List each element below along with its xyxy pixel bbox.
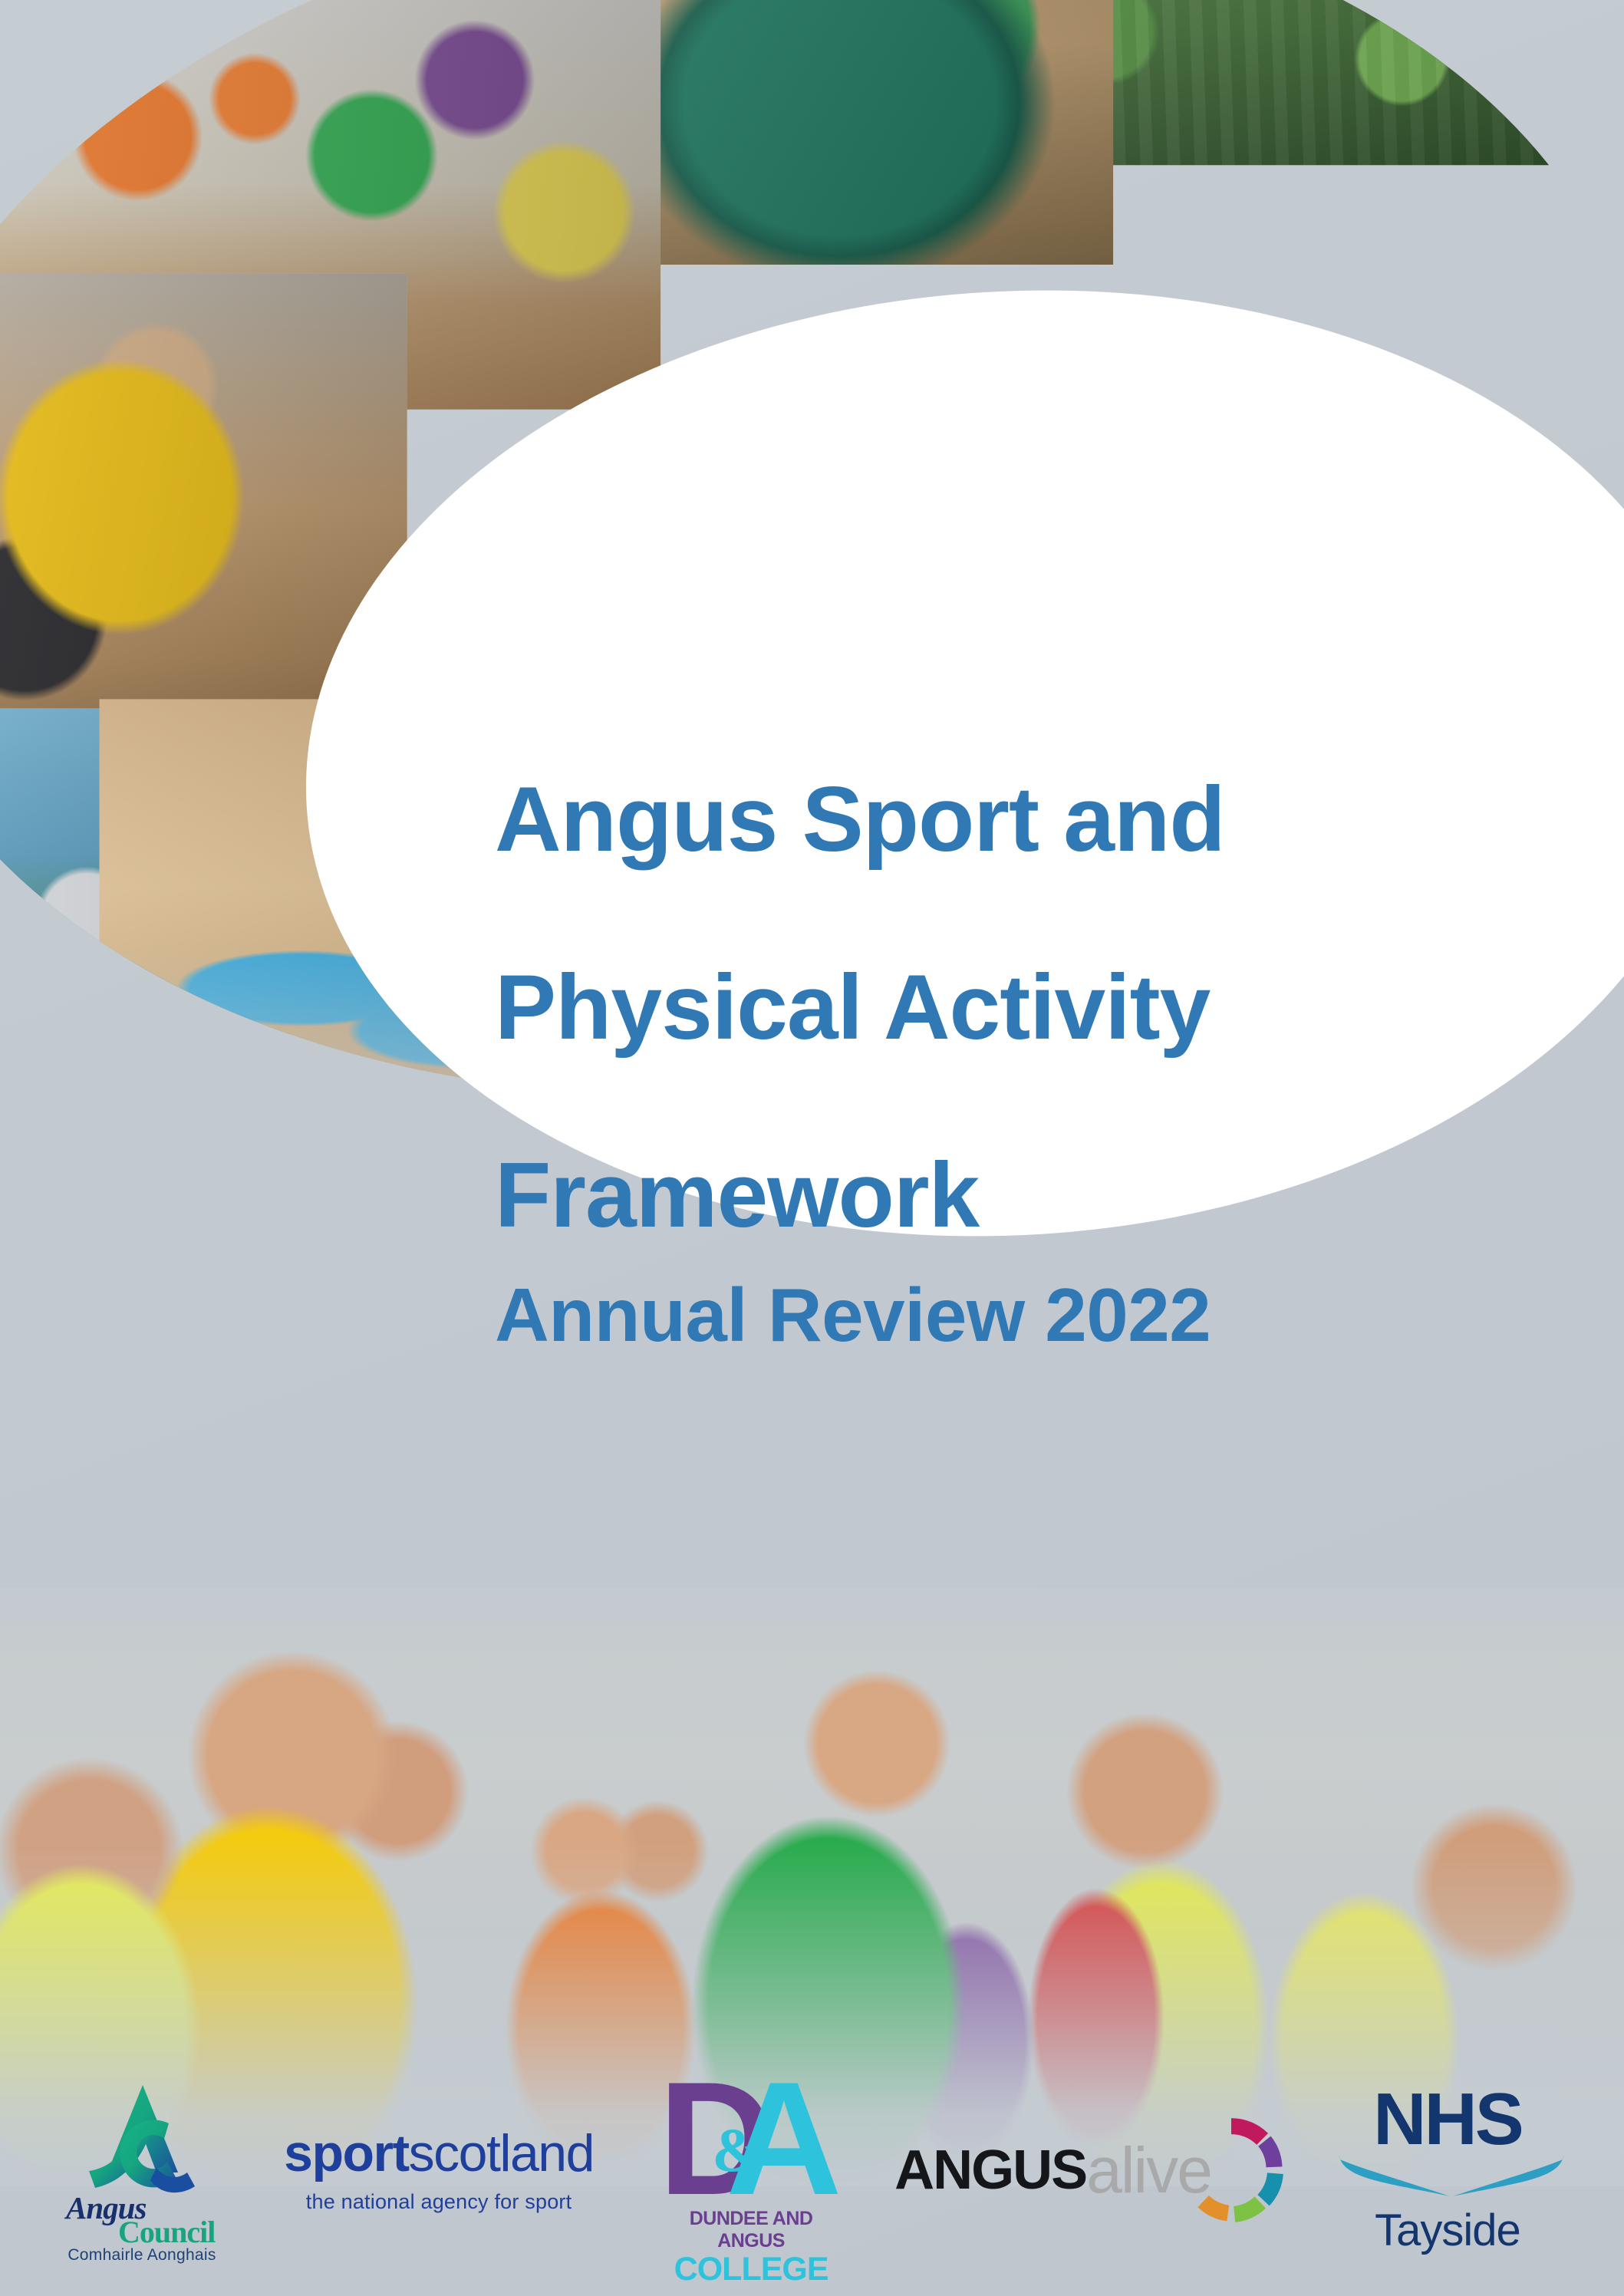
document-cover: Angus Sport and Physical Activity Framew… [0, 0, 1624, 2296]
logo-angus-council[interactable]: Angus Council Comhairle Aonghais [61, 2082, 222, 2258]
da-line-college: COLLEGE [655, 2252, 847, 2287]
title-line-3: Framework [495, 1144, 979, 1247]
logo-nhs-tayside[interactable]: NHS Tayside [1332, 2084, 1563, 2255]
title-line-1: Angus Sport and [495, 768, 1225, 871]
da-monogram: D A & [655, 2076, 847, 2205]
angus-council-a-icon [83, 2082, 206, 2205]
angusalive-word-angus: ANGUS [894, 2139, 1086, 2202]
sportscotland-wordmark: sportscotland [270, 2127, 608, 2179]
sportscotland-strapline: the national agency for sport [270, 2190, 608, 2214]
page-subtitle: Annual Review 2022 [495, 1277, 1454, 1352]
nhs-swoosh-icon [1332, 2152, 1570, 2199]
angus-council-gaelic: Comhairle Aonghais [61, 2246, 222, 2265]
sportscotland-word-scotland: scotland [409, 2124, 594, 2182]
title-line-2: Physical Activity [495, 956, 1210, 1059]
logo-sportscotland[interactable]: sportscotland the national agency for sp… [270, 2127, 608, 2214]
title-block: Angus Sport and Physical Activity Framew… [495, 679, 1454, 1352]
angusalive-ring-icon [1178, 2116, 1285, 2224]
nhs-wordmark: NHS [1332, 2084, 1563, 2154]
da-ampersand: & [712, 2119, 764, 2182]
angus-council-word-council: Council [118, 2214, 215, 2250]
page-title: Angus Sport and Physical Activity Framew… [495, 679, 1454, 1242]
logo-dundee-and-angus-college[interactable]: D A & DUNDEE AND ANGUS COLLEGE [655, 2076, 847, 2265]
logo-angusalive[interactable]: ANGUS alive [894, 2113, 1285, 2228]
partner-logo-strip: Angus Council Comhairle Aonghais sportsc… [0, 2066, 1624, 2296]
sportscotland-word-sport: sport [284, 2124, 409, 2182]
nhs-tayside-label: Tayside [1332, 2205, 1563, 2256]
